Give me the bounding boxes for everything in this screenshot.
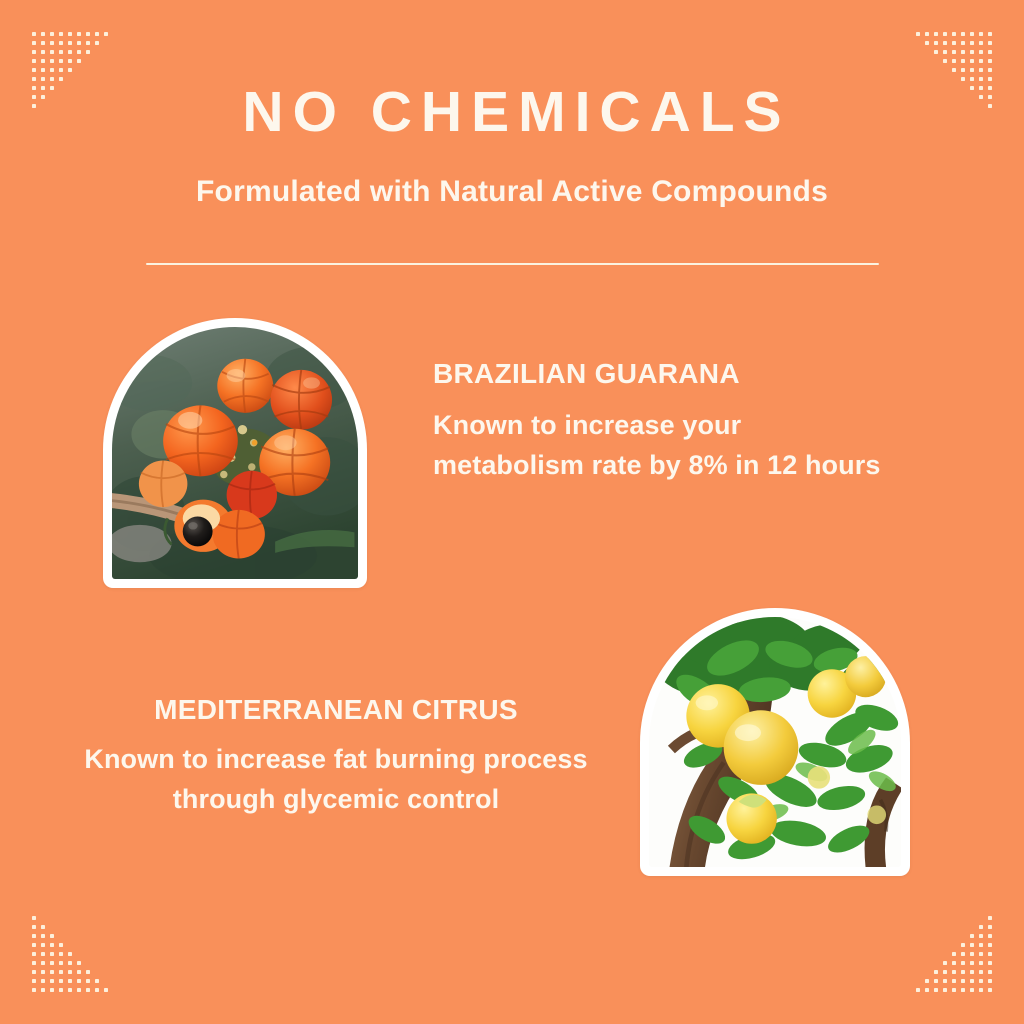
dot-pattern-bottom-right-icon	[896, 896, 992, 992]
guarana-photo	[112, 327, 358, 579]
ingredient-block-citrus: MEDITERRANEAN CITRUS Known to increase f…	[60, 694, 612, 820]
ingredient-heading-guarana: BRAZILIAN GUARANA	[433, 358, 895, 390]
ingredient-block-guarana: BRAZILIAN GUARANA Known to increase your…	[433, 358, 895, 486]
ingredient-description-citrus: Known to increase fat burning process th…	[60, 740, 612, 820]
page-title: NO CHEMICALS	[0, 84, 1024, 141]
ingredient-heading-citrus: MEDITERRANEAN CITRUS	[60, 694, 612, 726]
header-divider	[146, 263, 879, 265]
guarana-image-frame	[103, 318, 367, 588]
promo-poster: NO CHEMICALS Formulated with Natural Act…	[0, 0, 1024, 1024]
ingredient-description-guarana: Known to increase your metabolism rate b…	[433, 406, 895, 486]
citrus-image-frame	[640, 608, 910, 876]
page-subtitle: Formulated with Natural Active Compounds	[0, 174, 1024, 210]
citrus-photo	[649, 617, 901, 867]
dot-pattern-bottom-left-icon	[32, 896, 128, 992]
